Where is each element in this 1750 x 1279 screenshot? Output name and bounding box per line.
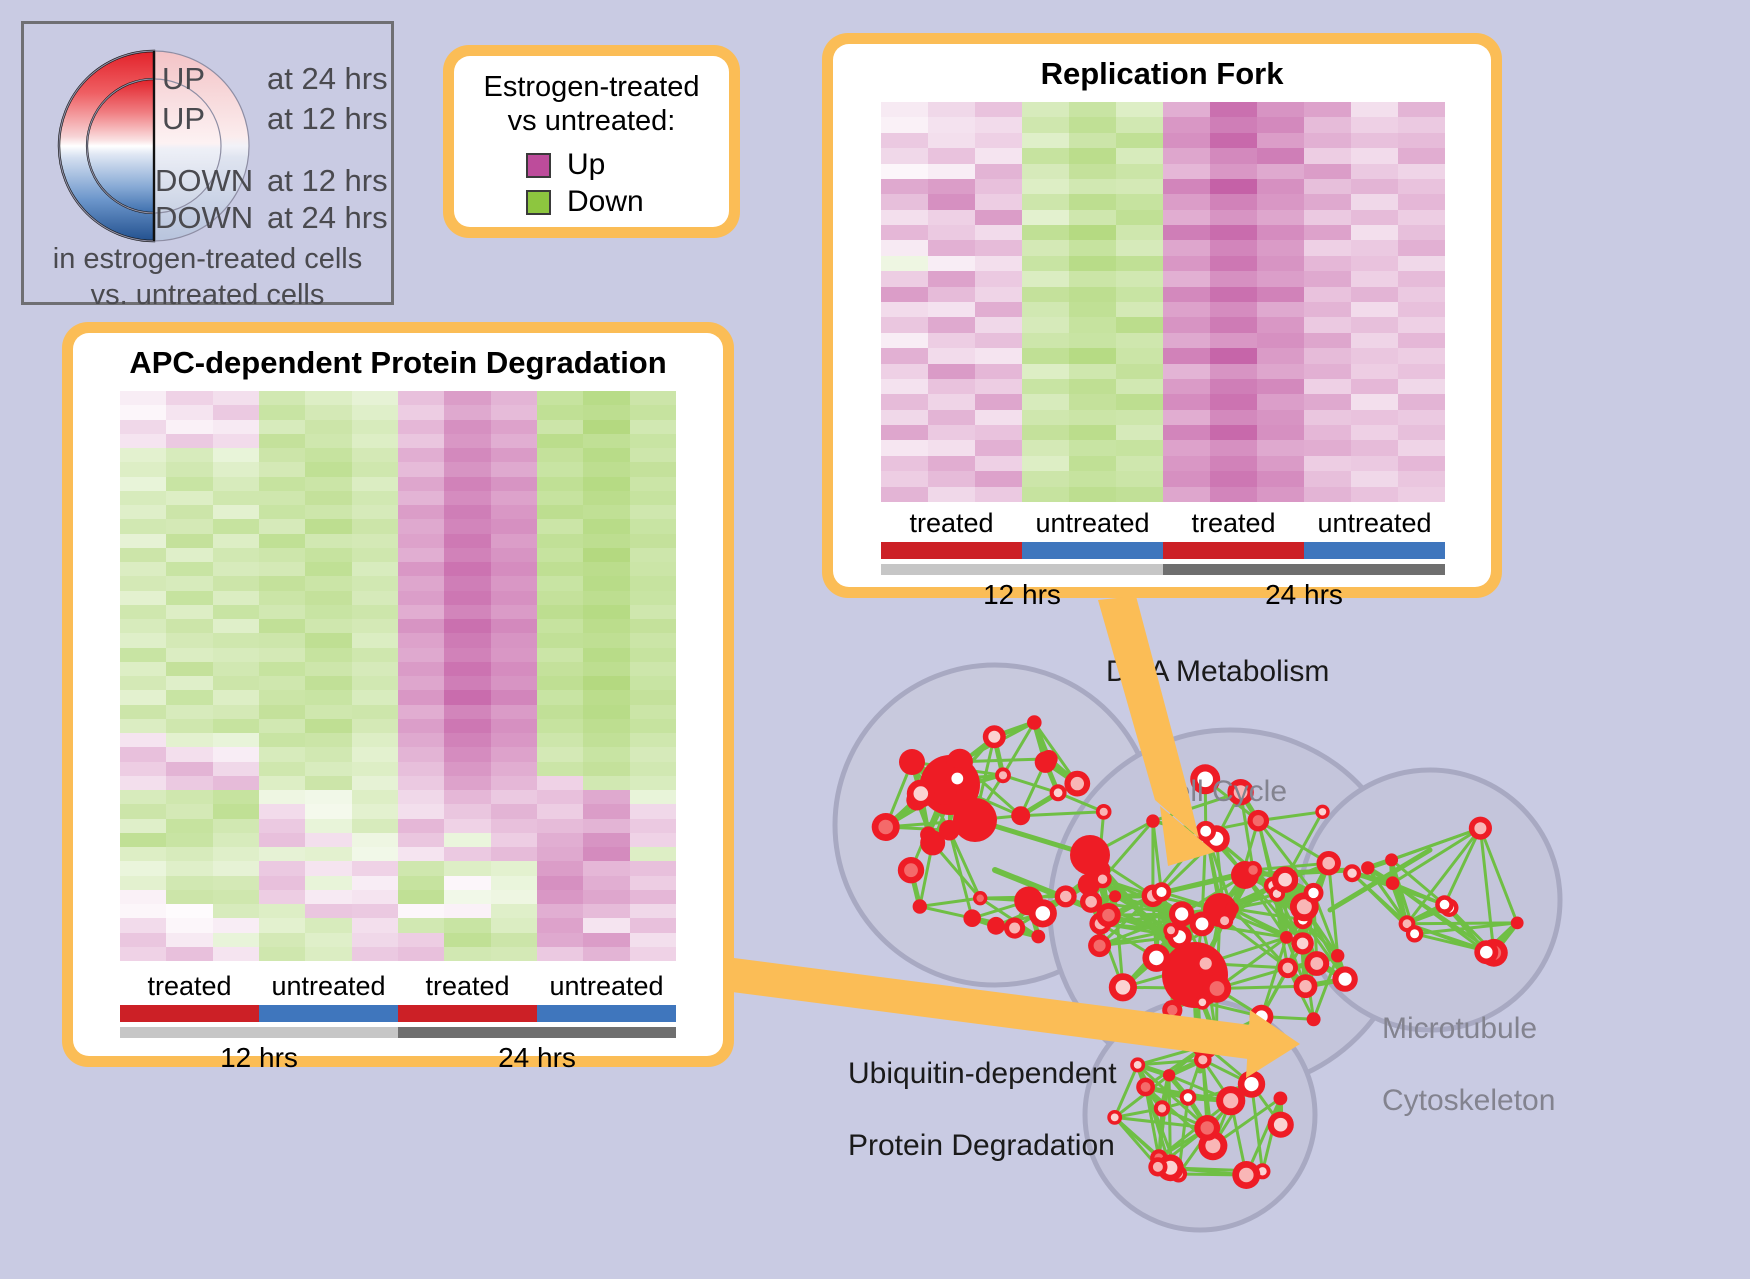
heatmap-cell: [259, 747, 305, 761]
network-label-ubiquitin: Ubiquitin-dependent Protein Degradation: [848, 1020, 1117, 1200]
heatmap-cell: [1022, 287, 1069, 302]
network-node-ring: [1070, 835, 1110, 875]
heatmap-cell: [1069, 410, 1116, 425]
network-node-core: [1274, 1118, 1288, 1132]
heatmap-cell: [259, 690, 305, 704]
heatmap-cell: [305, 662, 351, 676]
heatmap-cell: [491, 405, 537, 419]
network-node-core: [1153, 1162, 1163, 1172]
heatmap-cell: [1210, 287, 1257, 302]
heatmap-cell: [1210, 302, 1257, 317]
heatmap-cell: [1069, 102, 1116, 117]
heatmap-cell: [1398, 440, 1445, 455]
heatmap-cell: [120, 633, 166, 647]
network-node[interactable]: [939, 820, 960, 841]
network-node[interactable]: [1291, 932, 1313, 954]
heatmap-cell: [1304, 487, 1351, 502]
network-node[interactable]: [1194, 1051, 1212, 1069]
network-node[interactable]: [1304, 883, 1324, 903]
network-node[interactable]: [1225, 902, 1238, 915]
network-node[interactable]: [1469, 817, 1492, 840]
heatmap-cell: [491, 947, 537, 961]
heatmap-cell: [630, 391, 676, 405]
heatmap-cell: [928, 302, 975, 317]
heatmap-cell: [352, 747, 398, 761]
network-node-core: [1100, 808, 1108, 816]
heatmap-cell: [630, 619, 676, 633]
heatmap-cell: [120, 420, 166, 434]
network-node[interactable]: [1152, 882, 1171, 901]
apc-degradation-title: APC-dependent Protein Degradation: [73, 345, 723, 381]
heatmap-cell: [1022, 256, 1069, 271]
network-node[interactable]: [1331, 949, 1344, 962]
heatmap-cell: [398, 804, 444, 818]
network-node[interactable]: [973, 891, 987, 905]
heatmap-cell: [166, 890, 212, 904]
heatmap-cell: [398, 576, 444, 590]
heatmap-cell: [1116, 225, 1163, 240]
heatmap-cell: [398, 719, 444, 733]
network-node[interactable]: [1195, 821, 1216, 842]
heatmap-cell: [352, 833, 398, 847]
heatmap-cell: [537, 391, 583, 405]
network-node-core: [1255, 1010, 1267, 1022]
heatmap-cell: [583, 762, 629, 776]
heatmap-cell: [305, 747, 351, 761]
heatmap-cell: [120, 861, 166, 875]
heatmap-cell: [259, 819, 305, 833]
heatmap-cell: [491, 434, 537, 448]
network-node[interactable]: [1154, 1100, 1170, 1116]
heatmap-cell: [444, 434, 490, 448]
heatmap-cell: [1257, 287, 1304, 302]
heatmap-cell: [1304, 117, 1351, 132]
heatmap-cell: [305, 477, 351, 491]
heatmap-cell: [166, 505, 212, 519]
network-node[interactable]: [1435, 895, 1454, 914]
heatmap-cell: [975, 117, 1022, 132]
network-node-ring: [987, 917, 1005, 935]
heatmap-cell: [259, 762, 305, 776]
heatmap-cell: [1022, 271, 1069, 286]
heatmap-cell: [305, 890, 351, 904]
network-node-core: [914, 786, 929, 801]
replication-fork-axis-strip: treateduntreatedtreateduntreated 12 hrs2…: [881, 508, 1445, 611]
timepoint-color-bar: [398, 1027, 676, 1038]
heatmap-cell: [583, 462, 629, 476]
network-node[interactable]: [1027, 715, 1042, 730]
heatmap-cell: [259, 534, 305, 548]
heatmap-cell: [1116, 133, 1163, 148]
network-node[interactable]: [1194, 1115, 1220, 1141]
heatmap-cell: [1210, 471, 1257, 486]
heatmap-cell: [1210, 102, 1257, 117]
heatmap-cell: [305, 405, 351, 419]
heatmap-cell: [1351, 317, 1398, 332]
condition-label: untreated: [537, 971, 676, 1002]
network-node[interactable]: [899, 749, 925, 775]
heatmap-cell: [881, 410, 928, 425]
heatmap-cell: [491, 833, 537, 847]
network-node[interactable]: [1180, 1089, 1197, 1106]
heatmap-cell: [1069, 225, 1116, 240]
heatmap-cell: [1304, 317, 1351, 332]
network-node[interactable]: [1194, 952, 1217, 975]
network-node[interactable]: [1029, 899, 1057, 927]
network-node[interactable]: [983, 725, 1006, 748]
network-node[interactable]: [1250, 1005, 1274, 1029]
heatmap-cell: [259, 448, 305, 462]
heatmap-cell: [166, 705, 212, 719]
heatmap-cell: [166, 420, 212, 434]
heatmap-cell: [928, 225, 975, 240]
heatmap-cell: [1351, 487, 1398, 502]
heatmap-cell: [881, 210, 928, 225]
heatmap-cell: [166, 904, 212, 918]
heatmap-cell: [491, 847, 537, 861]
network-node[interactable]: [1317, 851, 1341, 875]
network-node[interactable]: [953, 798, 997, 842]
heatmap-cell: [1069, 394, 1116, 409]
heatmap-cell: [491, 918, 537, 932]
heatmap-cell: [1116, 471, 1163, 486]
heatmap-cell: [259, 833, 305, 847]
heatmap-cell: [537, 405, 583, 419]
heatmap-cell: [213, 448, 259, 462]
heatmap-cell: [166, 648, 212, 662]
heatmap-cell: [305, 576, 351, 590]
heatmap-cell: [1116, 210, 1163, 225]
heatmap-cell: [583, 861, 629, 875]
legend-items: Up Down: [454, 148, 729, 219]
network-node[interactable]: [1203, 974, 1231, 1002]
heatmap-cell: [583, 477, 629, 491]
heatmap-cell: [1398, 102, 1445, 117]
network-node[interactable]: [1064, 771, 1090, 797]
heatmap-cell: [352, 505, 398, 519]
heatmap-cell: [1069, 333, 1116, 348]
heatmap-cell: [166, 391, 212, 405]
heatmap-cell: [881, 102, 928, 117]
heatmap-cell: [305, 676, 351, 690]
heatmap-cell: [1022, 164, 1069, 179]
heatmap-cell: [1351, 225, 1398, 240]
network-node[interactable]: [1278, 958, 1298, 978]
network-node-ring: [1146, 814, 1159, 827]
heatmap-cell: [1257, 240, 1304, 255]
heatmap-cell: [1398, 164, 1445, 179]
network-node[interactable]: [946, 767, 969, 790]
network-node[interactable]: [1035, 751, 1057, 773]
network-node[interactable]: [1294, 974, 1318, 998]
heatmap-cell: [166, 448, 212, 462]
network-node[interactable]: [1304, 951, 1329, 976]
network-node[interactable]: [1511, 917, 1524, 930]
heatmap-cell: [975, 379, 1022, 394]
heatmap-cell: [630, 861, 676, 875]
heatmap-cell: [975, 302, 1022, 317]
network-node-ring: [1386, 876, 1400, 890]
heatmap-cell: [259, 619, 305, 633]
network-node-ring: [963, 909, 981, 927]
key-footer-line1: in estrogen-treated cells: [24, 242, 391, 278]
heatmap-cell: [259, 420, 305, 434]
network-node[interactable]: [1268, 1112, 1294, 1138]
heatmap-cell: [1022, 225, 1069, 240]
heatmap-cell: [975, 425, 1022, 440]
heatmap-cell: [1069, 287, 1116, 302]
heatmap-cell: [352, 576, 398, 590]
heatmap-cell: [881, 425, 928, 440]
network-label-microtubule: Microtubule Cytoskeleton: [1382, 975, 1555, 1155]
heatmap-cell: [1398, 287, 1445, 302]
heatmap-cell: [120, 762, 166, 776]
heatmap-cell: [1022, 179, 1069, 194]
heatmap-cell: [213, 519, 259, 533]
network-node[interactable]: [1031, 930, 1045, 944]
heatmap-cell: [537, 876, 583, 890]
heatmap-cell: [444, 705, 490, 719]
network-node[interactable]: [1130, 1057, 1145, 1072]
network-node-core: [1085, 896, 1097, 908]
heatmap-cell: [120, 434, 166, 448]
heatmap-cell: [305, 534, 351, 548]
heatmap-cell: [444, 947, 490, 961]
heatmap-cell: [630, 648, 676, 662]
heatmap-cell: [881, 364, 928, 379]
condition-label: treated: [120, 971, 259, 1002]
heatmap-cell: [1351, 117, 1398, 132]
heatmap-cell: [491, 491, 537, 505]
heatmap-cell: [1069, 302, 1116, 317]
heatmap-cell: [1022, 379, 1069, 394]
network-node-ring: [1225, 902, 1238, 915]
heatmap-cell: [537, 719, 583, 733]
network-node[interactable]: [1244, 861, 1262, 879]
network-node[interactable]: [1169, 901, 1194, 926]
condition-color-bar: [1022, 542, 1163, 559]
network-node[interactable]: [987, 917, 1005, 935]
network-node[interactable]: [1386, 876, 1400, 890]
heatmap-cell: [1210, 364, 1257, 379]
network-node-core: [1278, 873, 1292, 887]
network-node[interactable]: [1004, 917, 1025, 938]
legend-swatch-down-icon: [526, 190, 551, 215]
heatmap-cell: [1116, 302, 1163, 317]
heatmap-cell: [537, 548, 583, 562]
heatmap-cell: [1257, 179, 1304, 194]
heatmap-cell: [630, 904, 676, 918]
network-node[interactable]: [1232, 1161, 1260, 1189]
network-node[interactable]: [963, 909, 981, 927]
network-node-core: [1198, 1055, 1207, 1064]
network-node[interactable]: [1315, 805, 1329, 819]
network-node[interactable]: [1272, 867, 1298, 893]
network-node[interactable]: [913, 899, 927, 913]
heatmap-cell: [630, 405, 676, 419]
condition-label: treated: [881, 508, 1022, 539]
heatmap-cell: [444, 491, 490, 505]
network-node[interactable]: [1096, 804, 1112, 820]
network-node[interactable]: [1096, 903, 1120, 927]
network-node[interactable]: [1146, 814, 1159, 827]
heatmap-cell: [213, 505, 259, 519]
network-node[interactable]: [995, 767, 1011, 783]
heatmap-cell: [1304, 379, 1351, 394]
network-node-ring: [1331, 949, 1344, 962]
heatmap-cell: [630, 462, 676, 476]
heatmap-cell: [630, 690, 676, 704]
network-node[interactable]: [1109, 890, 1121, 902]
heatmap-cell: [928, 456, 975, 471]
network-node[interactable]: [872, 813, 900, 841]
condition-color-bar: [537, 1005, 676, 1022]
heatmap-cell: [881, 394, 928, 409]
heatmap-cell: [928, 440, 975, 455]
heatmap-cell: [259, 719, 305, 733]
network-node[interactable]: [1332, 966, 1357, 991]
heatmap-cell: [537, 904, 583, 918]
heatmap-cell: [1351, 194, 1398, 209]
network-node[interactable]: [1050, 784, 1067, 801]
heatmap-cell: [881, 256, 928, 271]
heatmap-cell: [444, 505, 490, 519]
heatmap-cell: [352, 491, 398, 505]
network-node[interactable]: [1307, 1012, 1321, 1026]
heatmap-cell: [1304, 271, 1351, 286]
network-node[interactable]: [1274, 1092, 1288, 1106]
heatmap-cell: [1304, 225, 1351, 240]
key-label-up-12: UP: [162, 101, 205, 136]
heatmap-cell: [928, 471, 975, 486]
network-node[interactable]: [1088, 934, 1111, 957]
network-node[interactable]: [1136, 1078, 1155, 1097]
heatmap-cell: [1163, 102, 1210, 117]
heatmap-cell: [928, 271, 975, 286]
heatmap-cell: [444, 762, 490, 776]
heatmap-cell: [1304, 456, 1351, 471]
heatmap-cell: [630, 519, 676, 533]
network-node[interactable]: [1011, 806, 1030, 825]
heatmap-cell: [166, 591, 212, 605]
network-node-core: [1253, 815, 1264, 826]
network-node-core: [977, 895, 984, 902]
network-node-core: [988, 731, 1000, 743]
heatmap-cell: [1398, 117, 1445, 132]
heatmap-cell: [352, 562, 398, 576]
network-node[interactable]: [1055, 885, 1077, 907]
heatmap-cell: [583, 519, 629, 533]
network-node-core: [1220, 916, 1229, 925]
heatmap-cell: [1116, 333, 1163, 348]
network-node[interactable]: [1142, 944, 1170, 972]
heatmap-cell: [975, 240, 1022, 255]
heatmap-cell: [1398, 487, 1445, 502]
heatmap-cell: [537, 462, 583, 476]
network-node[interactable]: [898, 857, 924, 883]
heatmap-cell: [1257, 317, 1304, 332]
heatmap-cell: [583, 790, 629, 804]
heatmap-cell: [166, 861, 212, 875]
network-node[interactable]: [1385, 853, 1398, 866]
heatmap-cell: [1210, 425, 1257, 440]
heatmap-cell: [1069, 133, 1116, 148]
network-node[interactable]: [1094, 870, 1112, 888]
network-label-microtubule-line1: Microtubule: [1382, 1011, 1555, 1047]
heatmap-cell: [444, 676, 490, 690]
heatmap-cell: [398, 705, 444, 719]
heatmap-cell: [398, 861, 444, 875]
heatmap-cell: [305, 904, 351, 918]
heatmap-cell: [444, 448, 490, 462]
heatmap-cell: [120, 676, 166, 690]
heatmap-cell: [928, 256, 975, 271]
heatmap-cell: [1116, 194, 1163, 209]
heatmap-cell: [537, 947, 583, 961]
heatmap-cell: [928, 148, 975, 163]
network-node[interactable]: [1343, 864, 1361, 882]
heatmap-cell: [630, 633, 676, 647]
network-node-ring: [1011, 806, 1030, 825]
heatmap-cell: [491, 562, 537, 576]
network-node[interactable]: [1070, 835, 1110, 875]
network-node[interactable]: [1238, 1070, 1265, 1097]
heatmap-cell: [1304, 410, 1351, 425]
heatmap-cell: [881, 117, 928, 132]
heatmap-cell: [583, 662, 629, 676]
network-node[interactable]: [1148, 1157, 1167, 1176]
heatmap-cell: [1257, 487, 1304, 502]
heatmap-cell: [1116, 425, 1163, 440]
network-node[interactable]: [1162, 1000, 1182, 1020]
heatmap-cell: [928, 425, 975, 440]
heatmap-cell: [305, 790, 351, 804]
heatmap-cell: [975, 471, 1022, 486]
heatmap-cell: [166, 947, 212, 961]
heatmap-cell: [537, 619, 583, 633]
heatmap-cell: [537, 705, 583, 719]
heatmap-cell: [166, 719, 212, 733]
heatmap-cell: [1351, 364, 1398, 379]
network-node[interactable]: [907, 780, 935, 808]
network-node[interactable]: [1361, 861, 1374, 874]
heatmap-cell: [444, 804, 490, 818]
heatmap-cell: [444, 933, 490, 947]
heatmap-cell: [1398, 317, 1445, 332]
heatmap-cell: [1163, 348, 1210, 363]
network-node[interactable]: [1406, 925, 1423, 942]
heatmap-cell: [259, 733, 305, 747]
heatmap-cell: [975, 210, 1022, 225]
network-node[interactable]: [1109, 973, 1137, 1001]
heatmap-cell: [1163, 117, 1210, 132]
heatmap-cell: [491, 861, 537, 875]
heatmap-cell: [166, 918, 212, 932]
network-node[interactable]: [1280, 931, 1293, 944]
heatmap-cell: [352, 790, 398, 804]
heatmap-cell: [583, 833, 629, 847]
heatmap-cell: [1398, 348, 1445, 363]
network-node[interactable]: [1248, 810, 1270, 832]
network-node[interactable]: [1163, 1069, 1175, 1081]
network-node[interactable]: [1474, 940, 1498, 964]
heatmap-cell: [352, 648, 398, 662]
heatmap-cell: [1163, 225, 1210, 240]
heatmap-cell: [120, 918, 166, 932]
heatmap-cell: [120, 705, 166, 719]
network-node-ring: [1031, 930, 1045, 944]
network-node-core: [1322, 857, 1335, 870]
